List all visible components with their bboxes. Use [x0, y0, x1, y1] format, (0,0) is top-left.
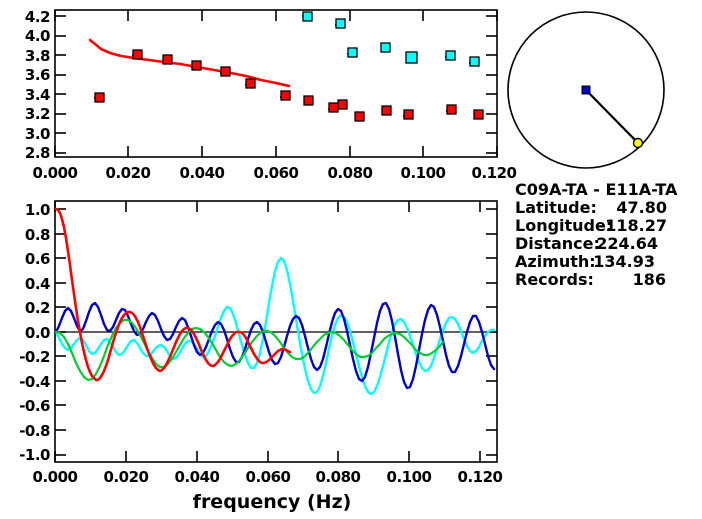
blue-broadband-trace	[56, 303, 494, 388]
data-marker	[470, 57, 479, 66]
xtick-label: 0.000	[33, 164, 78, 182]
xtick-label: 0.020	[104, 468, 149, 486]
ytick-label: 0.0	[25, 324, 50, 342]
data-marker	[447, 105, 456, 114]
ytick-label: -0.8	[19, 422, 50, 440]
waveform-y-ticklabels: 1.0 0.8 0.6 0.4 0.2 0.0 -0.2 -0.4 -0.6 -…	[19, 201, 50, 464]
data-marker	[338, 100, 347, 109]
xtick-label: 0.080	[328, 164, 373, 182]
ytick-label: 1.0	[25, 201, 50, 219]
xtick-label: 0.060	[246, 468, 291, 486]
x-axis-title: frequency (Hz)	[193, 491, 352, 513]
dispersion-y-ticks	[55, 16, 497, 153]
xtick-label: 0.040	[175, 468, 220, 486]
azimuth-ray	[586, 90, 637, 142]
waveform-panel: 1.0 0.8 0.6 0.4 0.2 0.0 -0.2 -0.4 -0.6 -…	[19, 201, 502, 513]
data-marker	[303, 12, 312, 21]
ytick-label: -1.0	[19, 446, 50, 464]
xtick-label: 0.120	[458, 468, 503, 486]
xtick-label: 0.040	[180, 164, 225, 182]
figure-svg: 4.2 4.0 3.8 3.6 3.4 3.2 3.0 2.8	[0, 0, 702, 519]
latitude-value: 47.80	[616, 198, 667, 217]
azimuth-diagram	[508, 12, 664, 168]
data-marker	[192, 61, 201, 70]
ytick-label: 3.2	[25, 105, 50, 123]
data-marker	[304, 96, 313, 105]
data-marker	[382, 106, 391, 115]
ytick-label: 2.8	[25, 144, 50, 162]
data-marker	[163, 55, 172, 64]
ytick-label: 0.2	[25, 299, 50, 317]
cyan-broadband-trace	[56, 258, 494, 394]
center-station-marker	[582, 86, 590, 94]
ytick-label: 4.0	[25, 27, 50, 45]
station-pair-title: C09A-TA - E11A-TA	[515, 180, 678, 199]
data-marker	[329, 103, 338, 112]
xtick-label: 0.100	[387, 468, 432, 486]
xtick-label: 0.020	[106, 164, 151, 182]
data-marker	[246, 79, 255, 88]
data-marker	[406, 52, 417, 63]
paired-station-marker	[634, 139, 643, 148]
records-value: 186	[633, 270, 666, 289]
xtick-label: 0.080	[316, 468, 361, 486]
data-marker	[221, 67, 230, 76]
reference-dispersion-curve	[90, 40, 289, 86]
azimuth-label: Azimuth:	[515, 252, 596, 271]
dispersion-x-ticklabels: 0.000 0.020 0.040 0.060 0.080 0.100 0.12…	[33, 164, 517, 182]
xtick-label: 0.060	[254, 164, 299, 182]
data-marker	[95, 93, 104, 102]
station-info-block: C09A-TA - E11A-TA Latitude: 47.80 Longit…	[515, 180, 678, 289]
ytick-label: -0.4	[19, 373, 50, 391]
ytick-label: 0.6	[25, 250, 50, 268]
data-marker	[336, 19, 345, 28]
ytick-label: 0.4	[25, 275, 50, 293]
xtick-label: 0.120	[472, 164, 517, 182]
dispersion-y-ticklabels: 4.2 4.0 3.8 3.6 3.4 3.2 3.0 2.8	[25, 8, 50, 162]
dispersion-panel: 4.2 4.0 3.8 3.6 3.4 3.2 3.0 2.8	[25, 8, 517, 182]
ytick-label: 3.0	[25, 125, 50, 143]
ytick-label: 3.6	[25, 66, 50, 84]
data-marker	[355, 112, 364, 121]
xtick-label: 0.100	[401, 164, 446, 182]
xtick-label: 0.000	[33, 468, 78, 486]
ytick-label: 3.4	[25, 86, 50, 104]
data-marker	[474, 110, 483, 119]
ytick-label: 0.8	[25, 226, 50, 244]
distance-label: Distance:	[515, 234, 600, 253]
records-label: Records:	[515, 270, 594, 289]
ytick-label: 3.8	[25, 47, 50, 65]
distance-value: 224.64	[596, 234, 658, 253]
figure-canvas: 4.2 4.0 3.8 3.6 3.4 3.2 3.0 2.8	[0, 0, 702, 519]
waveform-x-ticklabels: 0.000 0.020 0.040 0.060 0.080 0.100 0.12…	[33, 468, 503, 486]
azimuth-value: 134.93	[593, 252, 655, 271]
latitude-label: Latitude:	[515, 198, 597, 217]
ytick-label: -0.6	[19, 397, 50, 415]
data-marker	[133, 50, 142, 59]
longitude-value: -118.27	[599, 216, 667, 235]
ytick-label: 4.2	[25, 8, 50, 26]
data-marker	[404, 110, 413, 119]
phase-velocity-measurements	[302, 12, 479, 66]
data-marker	[348, 48, 357, 57]
ytick-label: -0.2	[19, 348, 50, 366]
data-marker	[281, 91, 290, 100]
data-marker	[446, 51, 455, 60]
data-marker	[381, 43, 390, 52]
